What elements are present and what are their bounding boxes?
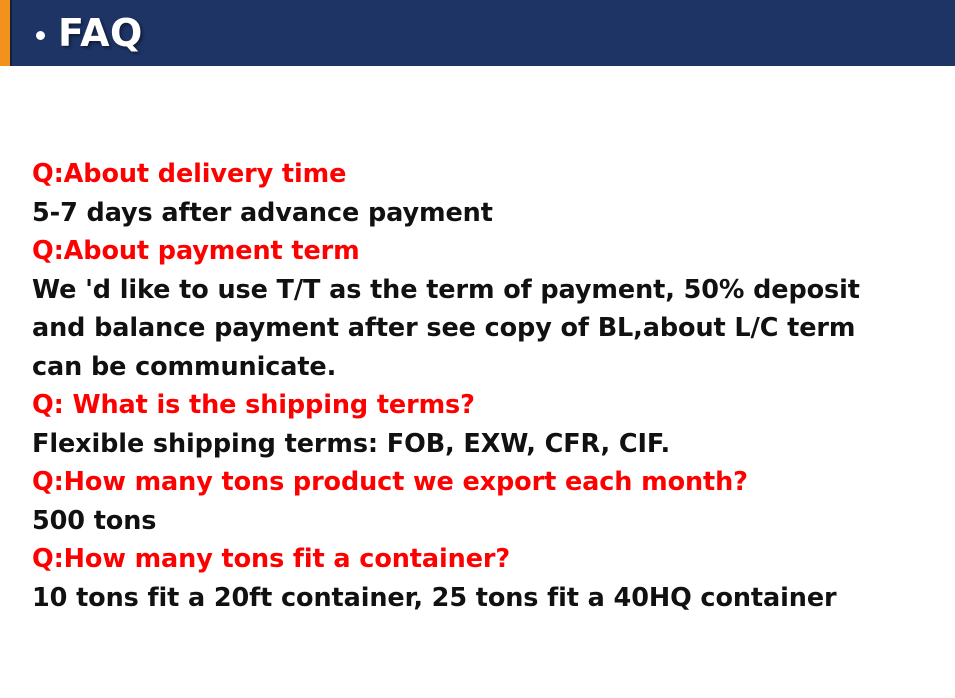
faq-answer-5: 10 tons fit a 20ft container, 25 tons fi… — [32, 579, 927, 618]
header-title-bar: FAQ — [12, 0, 955, 66]
faq-list: Q:About delivery time 5-7 days after adv… — [32, 155, 927, 617]
slide-header: FAQ — [0, 0, 955, 66]
faq-answer-4: 500 tons — [32, 502, 927, 541]
faq-question-1: Q:About delivery time — [32, 155, 927, 194]
faq-question-4: Q:How many tons product we export each m… — [32, 463, 927, 502]
header-accent-bar — [0, 0, 10, 66]
faq-answer-3: Flexible shipping terms: FOB, EXW, CFR, … — [32, 425, 927, 464]
bullet-dot-icon — [36, 31, 45, 40]
slide-root: FAQ Q:About delivery time 5-7 days after… — [0, 0, 955, 698]
faq-question-3: Q: What is the shipping terms? — [32, 386, 927, 425]
faq-question-5: Q:How many tons fit a container? — [32, 540, 927, 579]
faq-question-2: Q:About payment term — [32, 232, 927, 271]
faq-answer-2: We 'd like to use T/T as the term of pay… — [32, 271, 912, 387]
faq-answer-1: 5-7 days after advance payment — [32, 194, 927, 233]
page-title: FAQ — [58, 14, 143, 52]
